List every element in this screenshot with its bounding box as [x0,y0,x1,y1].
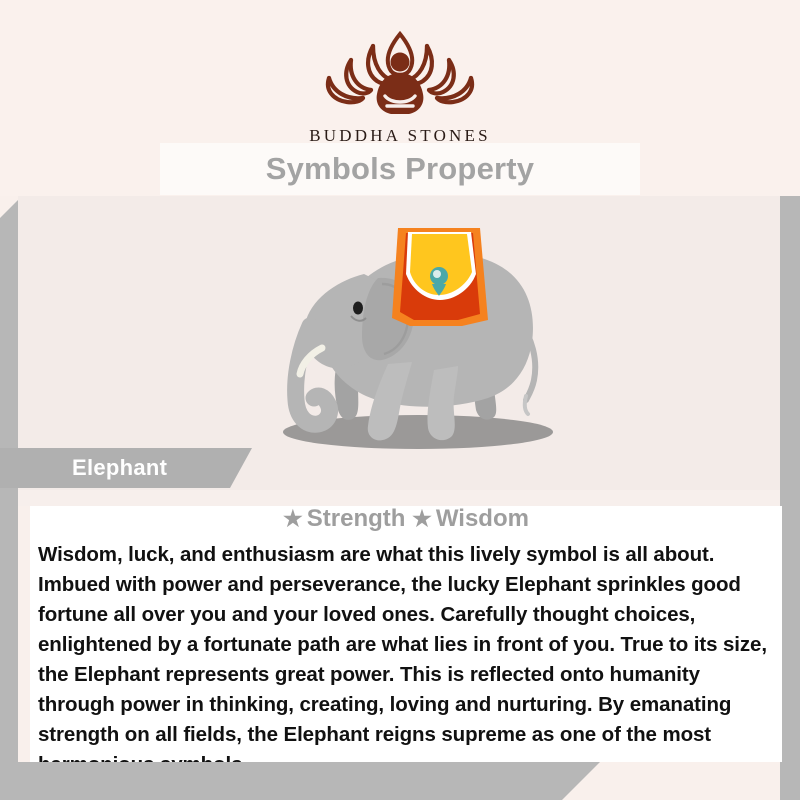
illustration-stage [18,196,780,490]
star-icon: ★ [283,506,303,531]
attribute-wisdom: ★Wisdom [412,505,529,532]
symbol-name-banner: Elephant [0,448,252,488]
elephant-eye [353,302,363,315]
title-band: Symbols Property [160,143,640,195]
symbol-property-card: BUDDHA STONES Symbols Property [0,0,800,800]
attributes-strip-background [18,490,780,506]
brand-logo: BUDDHA STONES [0,18,800,146]
saddle-blanket [392,228,488,326]
attribute-label: Wisdom [436,505,529,532]
header: BUDDHA STONES Symbols Property [0,0,800,196]
attribute-label: Strength [307,505,406,532]
symbol-name: Elephant [72,448,167,488]
attribute-list: ★Strength ★Wisdom [30,505,782,533]
symbol-description: Wisdom, luck, and enthusiasm are what th… [38,540,778,780]
page-title: Symbols Property [160,143,640,195]
star-icon: ★ [412,506,432,531]
frame-bar-left [0,200,18,800]
attribute-strength: ★Strength [283,505,412,532]
walking-elephant-illustration-icon [248,214,578,474]
frame-bar-bottom [0,762,600,800]
description-card: ★Strength ★Wisdom Wisdom, luck, and enth… [30,506,782,762]
lotus-meditation-logo-icon [307,18,493,122]
